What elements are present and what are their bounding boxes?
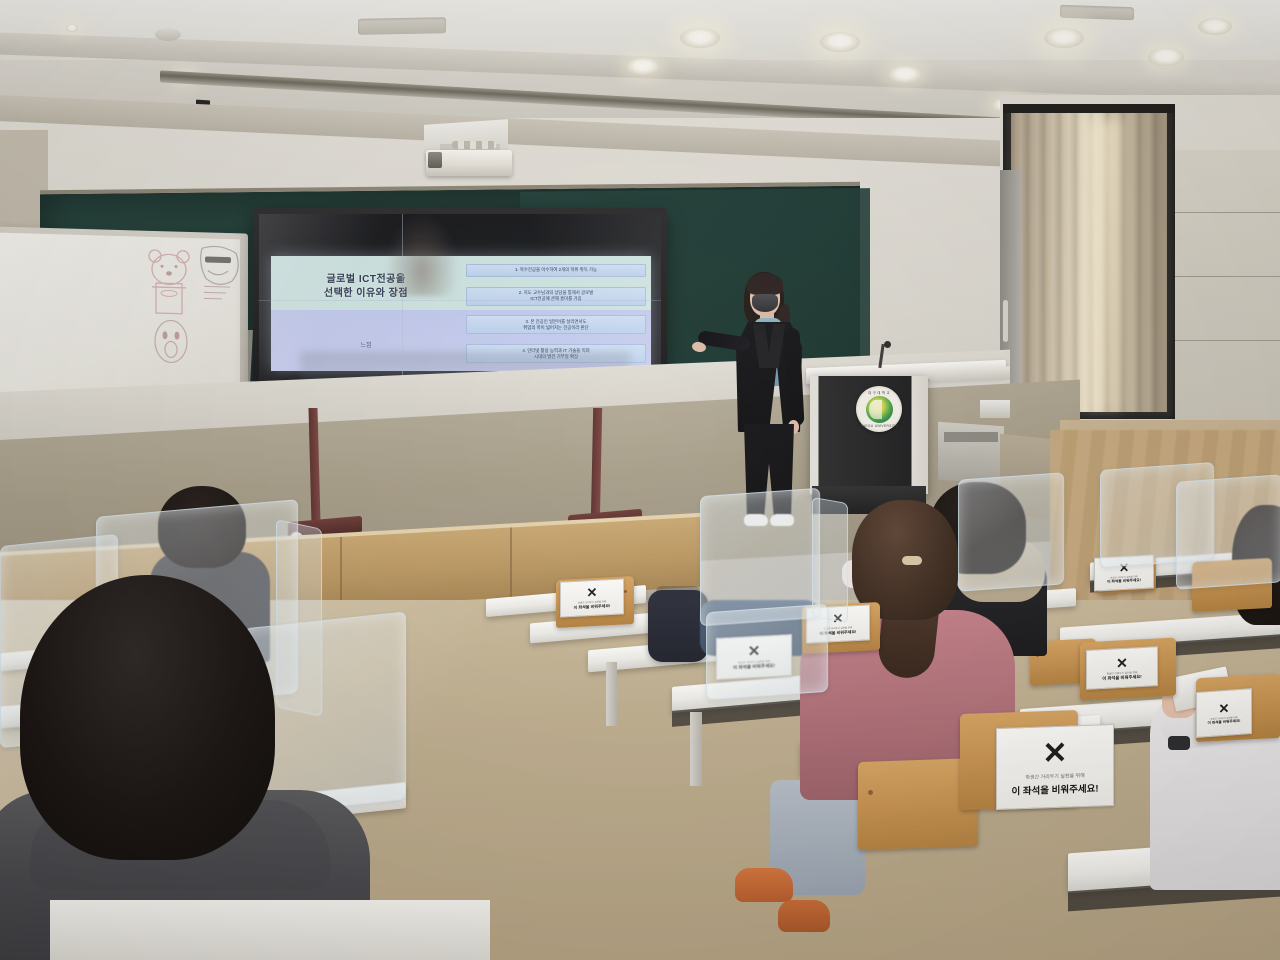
face-mask	[752, 294, 778, 312]
slide-title: 글로벌 ICT전공을 선택한 이유와 장점	[271, 256, 461, 318]
presentation-slide: 글로벌 ICT전공을 선택한 이유와 장점 느낌 1. 복수전공을 이수하여 2…	[271, 256, 651, 371]
av-equipment-shelf	[944, 432, 998, 442]
sign-main-text: 이 좌석을 비워주세요!	[1208, 718, 1241, 725]
ceiling-downlight	[626, 58, 660, 75]
slide-bullet: 1. 복수전공을 이수하여 2개의 학위 취득 가능	[466, 264, 646, 277]
slide-bullet: 3. 본 전공인 일본어를 살리면서도 취업의 폭이 넓어지는 전공이라 판단	[466, 315, 646, 334]
smoke-detector-icon	[155, 28, 181, 41]
slide-left-column: 글로벌 ICT전공을 선택한 이유와 장점 느낌	[271, 256, 461, 371]
projector-adjust-knobs[interactable]	[452, 141, 496, 149]
emblem-swoosh	[869, 400, 882, 419]
ceiling-downlight	[680, 28, 720, 48]
ceiling-downlight	[1198, 18, 1232, 35]
empty-seat-sign: ✕ 학생간 거리두기 실천을 위해 이 좌석을 비워주세요!	[1196, 688, 1252, 738]
empty-seat-sign: ✕ 학생간 거리두기 실천을 위해 이 좌석을 비워주세요!	[560, 578, 624, 617]
student-shoe	[778, 900, 830, 932]
ceiling-downlight	[1148, 48, 1184, 66]
ceiling-downlight	[66, 24, 78, 32]
ceiling-downlight	[1044, 28, 1084, 48]
desk-leg	[606, 662, 617, 726]
door-handle[interactable]	[1003, 300, 1008, 342]
slide-subtitle: 느낌	[271, 318, 461, 371]
student-hair	[20, 575, 275, 860]
acrylic-divider	[1176, 474, 1280, 589]
lecture-hall-photo: 글로벌 ICT전공을 선택한 이유와 장점 느낌 1. 복수전공을 이수하여 2…	[0, 0, 1280, 960]
desk	[50, 900, 490, 960]
ceiling-downlight	[888, 66, 922, 83]
emblem-graphic	[866, 396, 893, 423]
emblem-top-text: 대 구 대 학 교	[856, 390, 902, 395]
wristwatch	[1168, 736, 1190, 750]
sign-small-text: 학생간 거리두기 실천을 위해	[1025, 771, 1084, 780]
empty-seat-sign: ✕ 학생간 거리두기 실천을 위해 이 좌석을 비워주세요!	[1086, 646, 1158, 690]
x-mark-icon: ✕	[1219, 701, 1230, 715]
face-doodle-icon	[148, 315, 194, 372]
slide-bullet: 4. 인터넷 활용 능력과 IT 기술을 익혀 시대의 발전 기부일 확장	[466, 344, 646, 363]
backpack	[648, 590, 708, 662]
backpack-strap	[656, 586, 700, 598]
slide-bullet: 2. 지도 교수님과의 상담을 통해서 글로벌 ICT전공에 관해 흥미를 가짐	[466, 287, 646, 306]
empty-seat-sign: ✕ 학생간 거리두기 실천을 위해 이 좌석을 비워주세요!	[996, 724, 1114, 810]
acrylic-divider	[958, 472, 1064, 591]
desk-leg	[690, 712, 702, 786]
face-doodle-icon	[194, 242, 246, 309]
projector-lens	[428, 152, 442, 168]
av-equipment-box	[980, 400, 1010, 418]
acrylic-divider	[706, 604, 828, 701]
presenter	[700, 268, 820, 523]
sign-main-text: 이 좌석을 비워주세요!	[1011, 780, 1098, 797]
x-mark-icon: ✕	[1042, 738, 1067, 769]
ceiling-vent	[1060, 5, 1134, 21]
curtain-daylight-glow	[1085, 120, 1121, 410]
sign-main-text: 이 좌석을 비워주세요!	[1107, 578, 1141, 585]
sign-main-text: 이 좌석을 비워주세요!	[574, 603, 611, 611]
ceiling-downlight	[820, 32, 860, 52]
hair-tie	[902, 556, 922, 565]
acoustic-panel-wall	[1172, 150, 1280, 420]
curtain-rod	[1003, 104, 1175, 113]
presenter-hair-front	[747, 273, 783, 295]
slide-title-line2: 선택한 이유와 장점	[324, 287, 408, 301]
x-mark-icon: ✕	[1116, 655, 1128, 670]
x-mark-icon: ✕	[587, 586, 598, 600]
student-shoe	[735, 868, 793, 902]
slide-bullet-column: 1. 복수전공을 이수하여 2개의 학위 취득 가능 2. 지도 교수님과의 상…	[461, 256, 651, 371]
ceiling-vent	[358, 17, 446, 35]
emblem-bottom-text: DAEGU UNIVERSITY	[856, 424, 902, 428]
slide-title-line1: 글로벌 ICT전공을	[326, 273, 405, 287]
sign-main-text: 이 좌석을 비워주세요!	[1102, 673, 1141, 681]
university-emblem: 대 구 대 학 교 DAEGU UNIVERSITY	[856, 386, 902, 432]
microphone-icon	[884, 341, 891, 348]
